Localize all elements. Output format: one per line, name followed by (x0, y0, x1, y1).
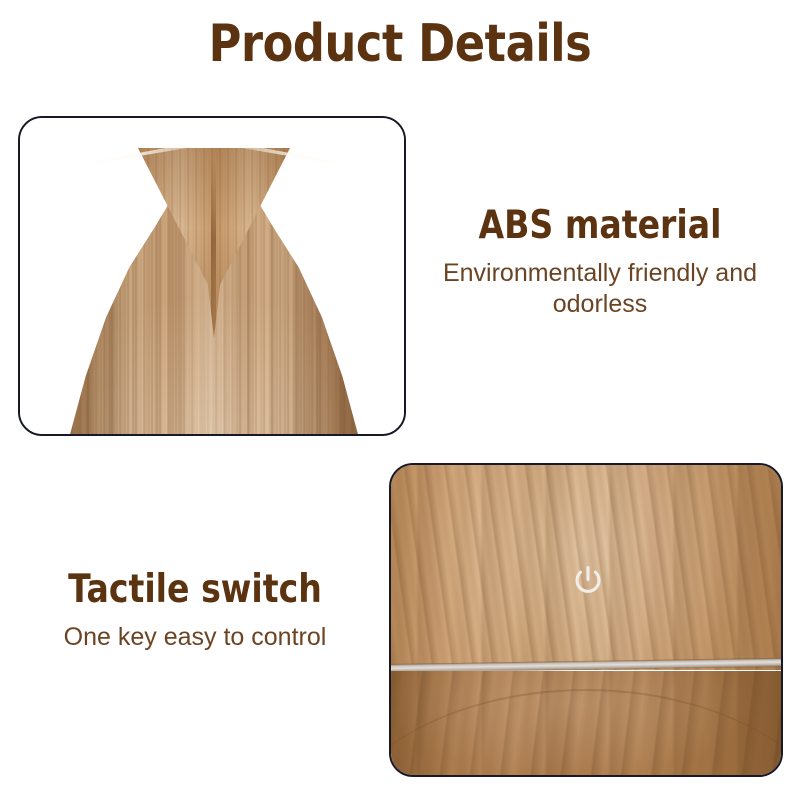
feature-switch-title: Tactile switch (46, 570, 344, 609)
funnel-ridge (211, 159, 216, 338)
humidifier-top-image (20, 118, 404, 434)
feature-abs-material: ABS material Environmentally friendly an… (420, 206, 780, 321)
humidifier-body-section (391, 671, 781, 775)
feature-abs-title: ABS material (447, 206, 753, 245)
shading-left (68, 146, 167, 436)
tactile-switch-photo-panel (389, 463, 783, 777)
shading-right (261, 146, 360, 436)
feature-abs-subtitle: Environmentally friendly and odorless (420, 258, 780, 321)
feature-tactile-switch: Tactile switch One key easy to control (20, 570, 370, 653)
humidifier-top-photo-panel (18, 116, 406, 436)
feature-switch-subtitle: One key easy to control (20, 622, 370, 653)
product-details-page: Product Details ABS material E (0, 0, 800, 800)
page-title: Product Details (56, 18, 744, 70)
tactile-switch-image (391, 465, 781, 775)
power-icon[interactable] (570, 562, 606, 598)
